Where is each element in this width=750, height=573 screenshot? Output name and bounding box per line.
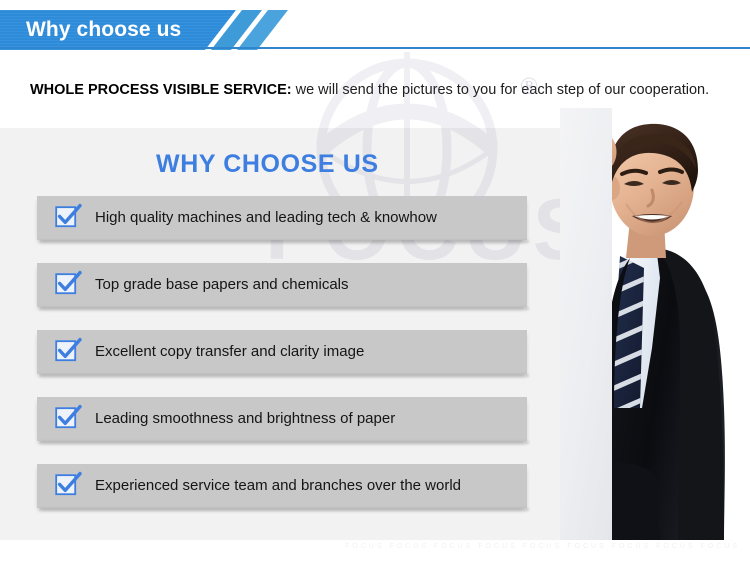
intro-lead: WHOLE PROCESS VISIBLE SERVICE:: [30, 82, 292, 98]
checkbox-checked-icon: [55, 207, 81, 229]
banner-underline: [0, 47, 750, 49]
intro-body: we will send the pictures to you for eac…: [292, 82, 710, 98]
list-item[interactable]: High quality machines and leading tech &…: [37, 196, 527, 240]
banner-title: Why choose us: [26, 19, 181, 41]
feature-list: High quality machines and leading tech &…: [37, 196, 529, 531]
blank-white-board: [560, 108, 612, 540]
list-item[interactable]: Experienced service team and branches ov…: [37, 464, 527, 508]
checkbox-checked-icon: [55, 475, 81, 497]
checkbox-checked-icon: [55, 274, 81, 296]
section-title: WHY CHOOSE US: [156, 150, 379, 179]
list-item-label: Experienced service team and branches ov…: [95, 477, 461, 495]
header-banner: Why choose us: [0, 10, 750, 50]
list-item-label: Leading smoothness and brightness of pap…: [95, 410, 395, 428]
checkbox-checked-icon: [55, 341, 81, 363]
list-item[interactable]: Leading smoothness and brightness of pap…: [37, 397, 527, 441]
list-item-label: Excellent copy transfer and clarity imag…: [95, 343, 364, 361]
list-item[interactable]: Top grade base papers and chemicals: [37, 263, 527, 307]
why-choose-us-page: Why choose us WHOLE PROCESS VISIBLE SERV…: [0, 0, 750, 573]
intro-paragraph: WHOLE PROCESS VISIBLE SERVICE: we will s…: [30, 77, 720, 104]
list-item[interactable]: Excellent copy transfer and clarity imag…: [37, 330, 527, 374]
list-item-label: Top grade base papers and chemicals: [95, 276, 349, 294]
list-item-label: High quality machines and leading tech &…: [95, 209, 437, 227]
checkbox-checked-icon: [55, 408, 81, 430]
watermark-footer-strip: FOCUS FOCUS FOCUS FOCUS FOCUS FOCUS FOCU…: [345, 543, 745, 557]
